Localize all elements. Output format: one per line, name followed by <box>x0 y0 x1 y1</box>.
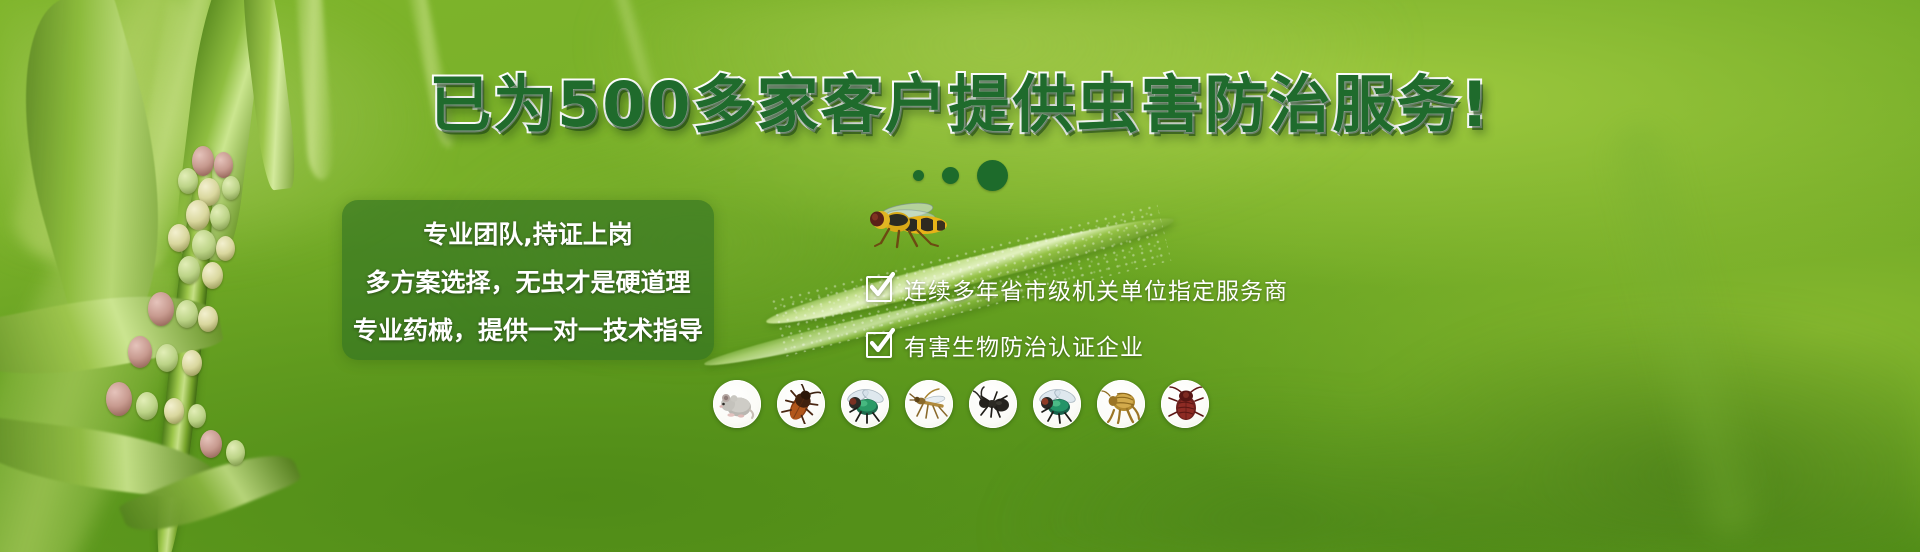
cockroach-icon[interactable] <box>777 380 825 428</box>
selling-point-line-1: 专业团队,持证上岗 <box>423 215 633 251</box>
plant-bud <box>200 430 222 458</box>
flea-icon[interactable] <box>1097 380 1145 428</box>
checklist-item: 有害生物防治认证企业 <box>866 328 1288 362</box>
checkmark-icon <box>866 276 892 302</box>
selling-points-text: 专业团队,持证上岗 多方案选择，无虫才是硬道理 专业药械，提供一对一技术指导 <box>342 202 714 360</box>
selling-point-line-2: 多方案选择，无虫才是硬道理 <box>365 263 690 299</box>
credentials-checklist: 连续多年省市级机关单位指定服务商 有害生物防治认证企业 <box>866 272 1288 362</box>
blowfly-icon[interactable] <box>1033 380 1081 428</box>
mosquito-icon[interactable] <box>905 380 953 428</box>
plant-bud <box>178 256 200 284</box>
decorative-dot-group <box>0 160 1920 191</box>
checklist-item-label: 有害生物防治认证企业 <box>904 328 1144 362</box>
selling-point-line-3: 专业药械，提供一对一技术指导 <box>353 311 703 347</box>
headline-container: 已为500多家客户提供虫害防治服务! <box>0 72 1920 137</box>
plant-bud <box>128 336 152 368</box>
dot-small-icon <box>913 170 924 181</box>
pest-control-hero-banner: 已为500多家客户提供虫害防治服务! 专业团队,持证上岗 多方案选择，无虫才是硬… <box>0 0 1920 552</box>
plant-bud <box>226 440 245 465</box>
dot-medium-icon <box>942 167 959 184</box>
checklist-item: 连续多年省市级机关单位指定服务商 <box>866 272 1288 306</box>
plant-bud <box>106 382 132 416</box>
bedbug-icon[interactable] <box>1161 380 1209 428</box>
hoverfly-image <box>845 196 965 256</box>
rodent-icon[interactable] <box>713 380 761 428</box>
checklist-item-label: 连续多年省市级机关单位指定服务商 <box>904 272 1288 306</box>
plant-bud <box>216 236 235 261</box>
fly-icon[interactable] <box>841 380 889 428</box>
banner-headline: 已为500多家客户提供虫害防治服务! <box>429 72 1491 137</box>
plant-bud <box>186 200 210 230</box>
plant-bud <box>198 306 218 332</box>
plant-bud <box>210 204 230 230</box>
plant-bud <box>148 292 174 326</box>
dot-large-icon <box>977 160 1008 191</box>
plant-bud <box>168 224 190 252</box>
plant-bud <box>176 300 198 328</box>
plant-bud <box>136 392 158 420</box>
plant-bud <box>164 398 184 424</box>
plant-bud <box>202 262 223 289</box>
plant-bud <box>192 230 216 260</box>
pest-type-icon-row <box>556 380 1366 428</box>
plant-bud <box>156 344 178 372</box>
ant-icon[interactable] <box>969 380 1017 428</box>
checkmark-icon <box>866 332 892 358</box>
plant-bud <box>182 350 202 376</box>
plant-bud <box>188 404 206 428</box>
